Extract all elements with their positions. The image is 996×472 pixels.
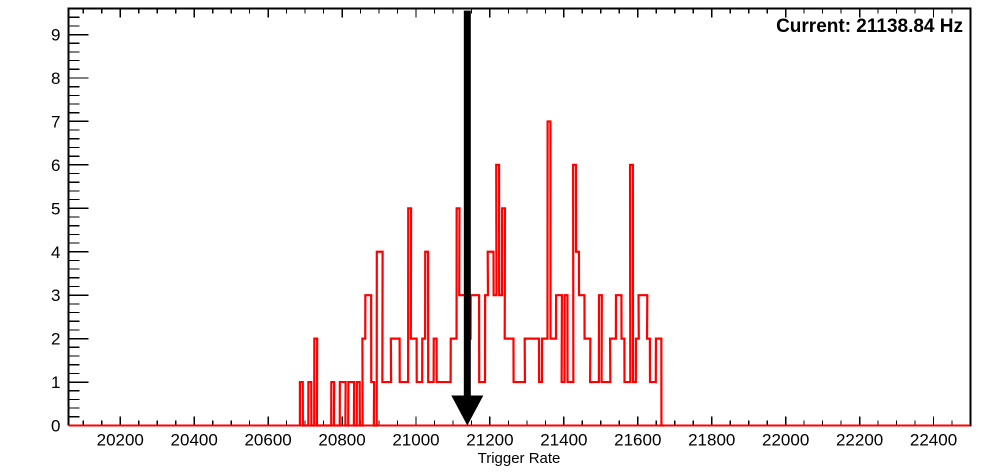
- y-tick-label: 3: [51, 286, 60, 305]
- x-tick-label: 20200: [97, 431, 144, 450]
- y-axis-ticks: [69, 9, 89, 426]
- y-tick-label: 9: [51, 26, 60, 45]
- histogram-outline: [300, 121, 664, 425]
- y-tick-label: 5: [51, 199, 60, 218]
- histogram-series: [69, 121, 971, 425]
- y-tick-label: 1: [51, 373, 60, 392]
- x-tick-label: 21400: [540, 431, 587, 450]
- x-tick-label: 20400: [171, 431, 218, 450]
- current-value-annotation: Current: 21138.84 Hz: [776, 16, 963, 37]
- y-tick-label: 4: [51, 243, 60, 262]
- x-axis-title: Trigger Rate: [478, 450, 561, 467]
- x-axis-ticks: [83, 9, 970, 426]
- y-tick-label: 2: [51, 330, 60, 349]
- y-tick-label: 8: [51, 69, 60, 88]
- x-tick-label: 21800: [688, 431, 735, 450]
- x-tick-label: 21600: [614, 431, 661, 450]
- y-tick-label: 0: [51, 417, 60, 436]
- y-axis-tick-labels: 0123456789: [51, 26, 60, 436]
- y-tick-label: 7: [51, 112, 60, 131]
- x-tick-label: 20600: [244, 431, 291, 450]
- histogram-plot: 2020020400206002080021000212002140021600…: [0, 0, 996, 472]
- plot-frame-rect: [69, 9, 971, 426]
- root-canvas: 2020020400206002080021000212002140021600…: [0, 0, 996, 472]
- x-tick-label: 22200: [836, 431, 883, 450]
- x-tick-label: 22400: [910, 431, 957, 450]
- x-tick-label: 20800: [318, 431, 365, 450]
- marker-arrowhead: [451, 396, 483, 426]
- x-tick-label: 21200: [466, 431, 513, 450]
- y-tick-label: 6: [51, 156, 60, 175]
- plot-frame: [69, 9, 971, 426]
- x-tick-label: 21000: [392, 431, 439, 450]
- x-tick-label: 22000: [762, 431, 809, 450]
- x-axis-tick-labels: 2020020400206002080021000212002140021600…: [97, 431, 958, 450]
